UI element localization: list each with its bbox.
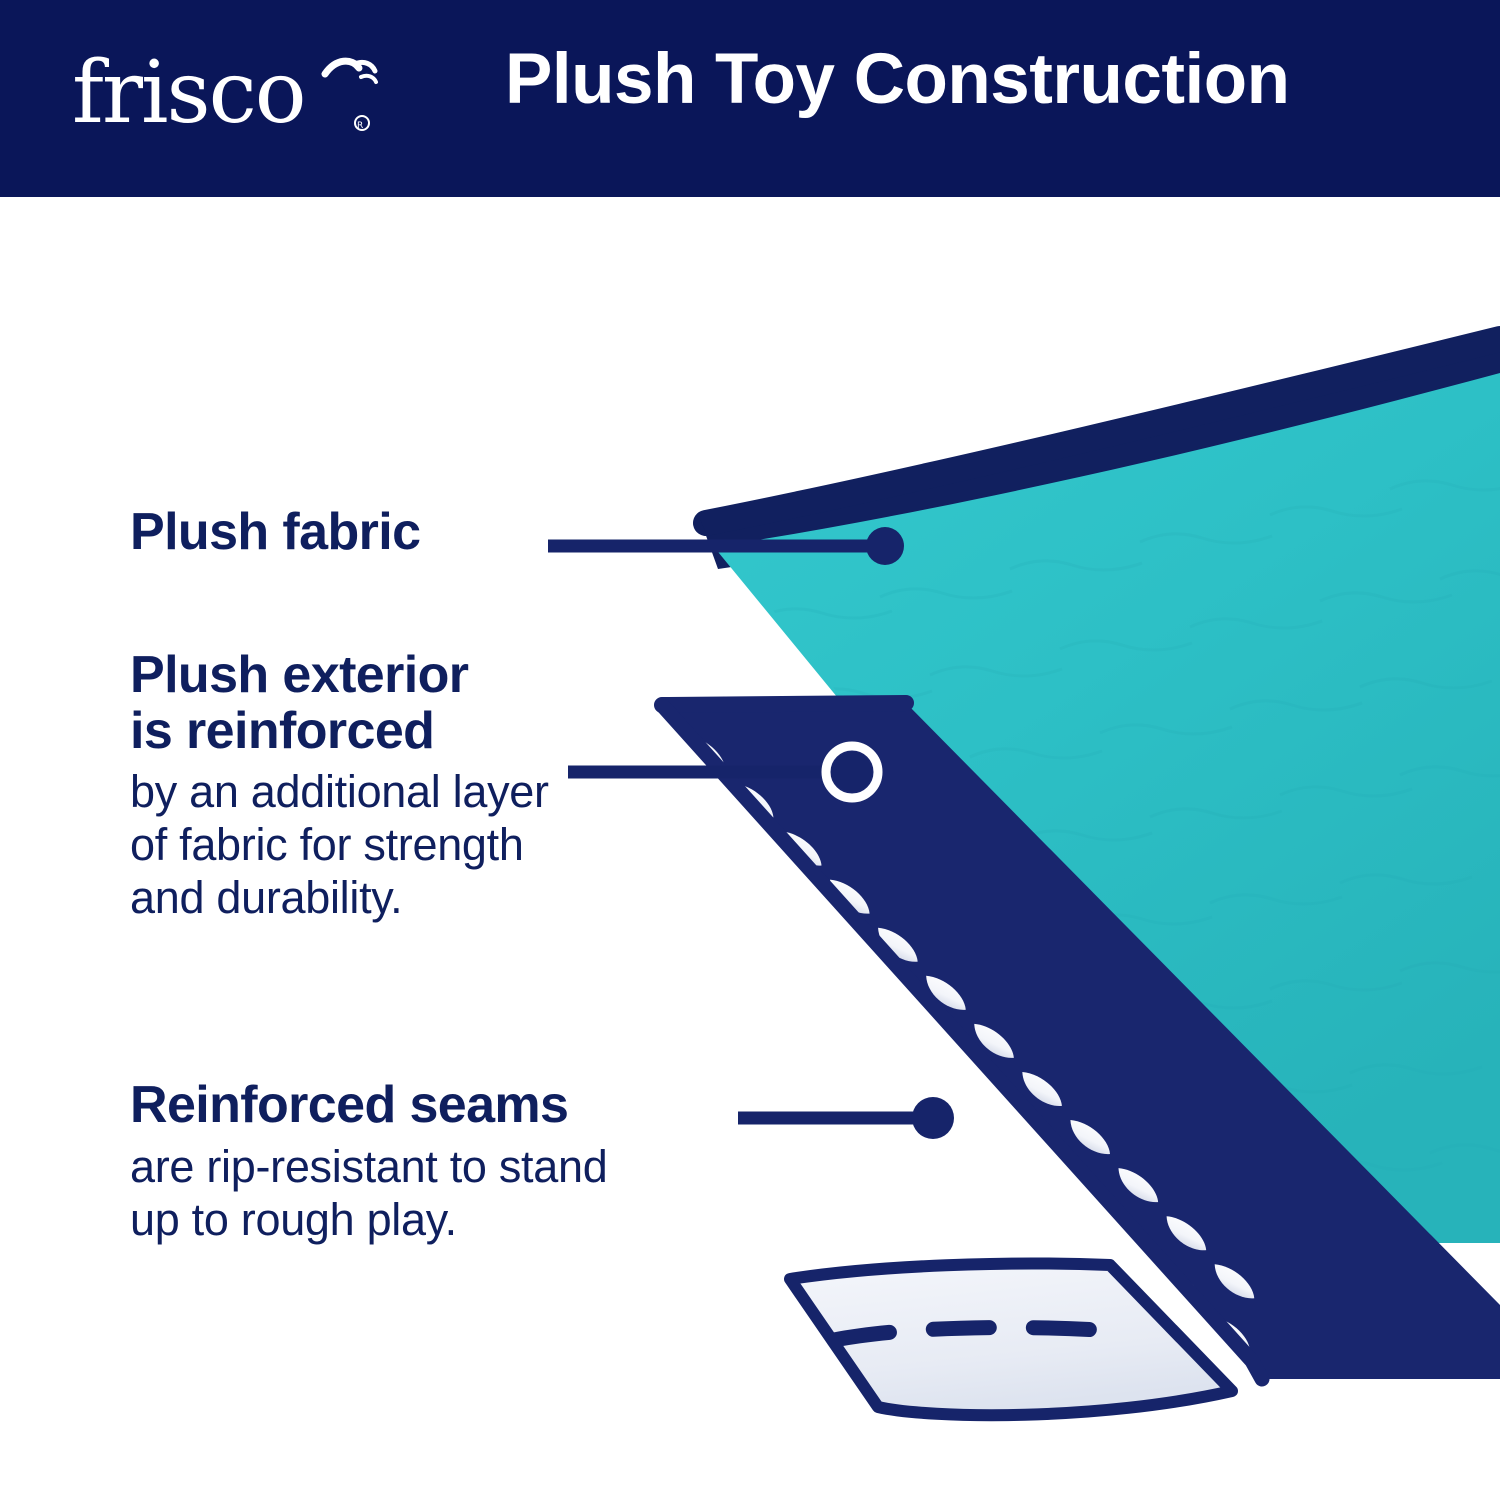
infographic-page: frisco R frisco Plush Toy Construction xyxy=(0,0,1500,1500)
callout-plush-exterior: Plush exterior is reinforced by an addit… xyxy=(130,648,710,925)
callout-reinforced-seams-heading: Reinforced seams xyxy=(130,1078,790,1134)
callout-plush-exterior-body: by an additional layer of fabric for str… xyxy=(130,765,710,924)
frisco-logo-text: frisco xyxy=(382,46,383,47)
callout-plush-fabric: Plush fabric xyxy=(130,505,560,561)
svg-text:R: R xyxy=(357,121,363,131)
seam-flap xyxy=(790,1264,1232,1416)
callout-plush-fabric-heading: Plush fabric xyxy=(130,505,560,561)
callout-reinforced-seams-body: are rip-resistant to stand up to rough p… xyxy=(130,1140,790,1246)
frisco-logo: frisco R frisco xyxy=(72,46,382,146)
callout-plush-exterior-heading: Plush exterior is reinforced xyxy=(130,648,710,759)
svg-text:frisco: frisco xyxy=(72,46,305,143)
callout-reinforced-seams: Reinforced seams are rip-resistant to st… xyxy=(130,1078,790,1246)
page-title: Plush Toy Construction xyxy=(505,44,1405,115)
header-bar: frisco R frisco Plush Toy Construction xyxy=(0,0,1500,197)
